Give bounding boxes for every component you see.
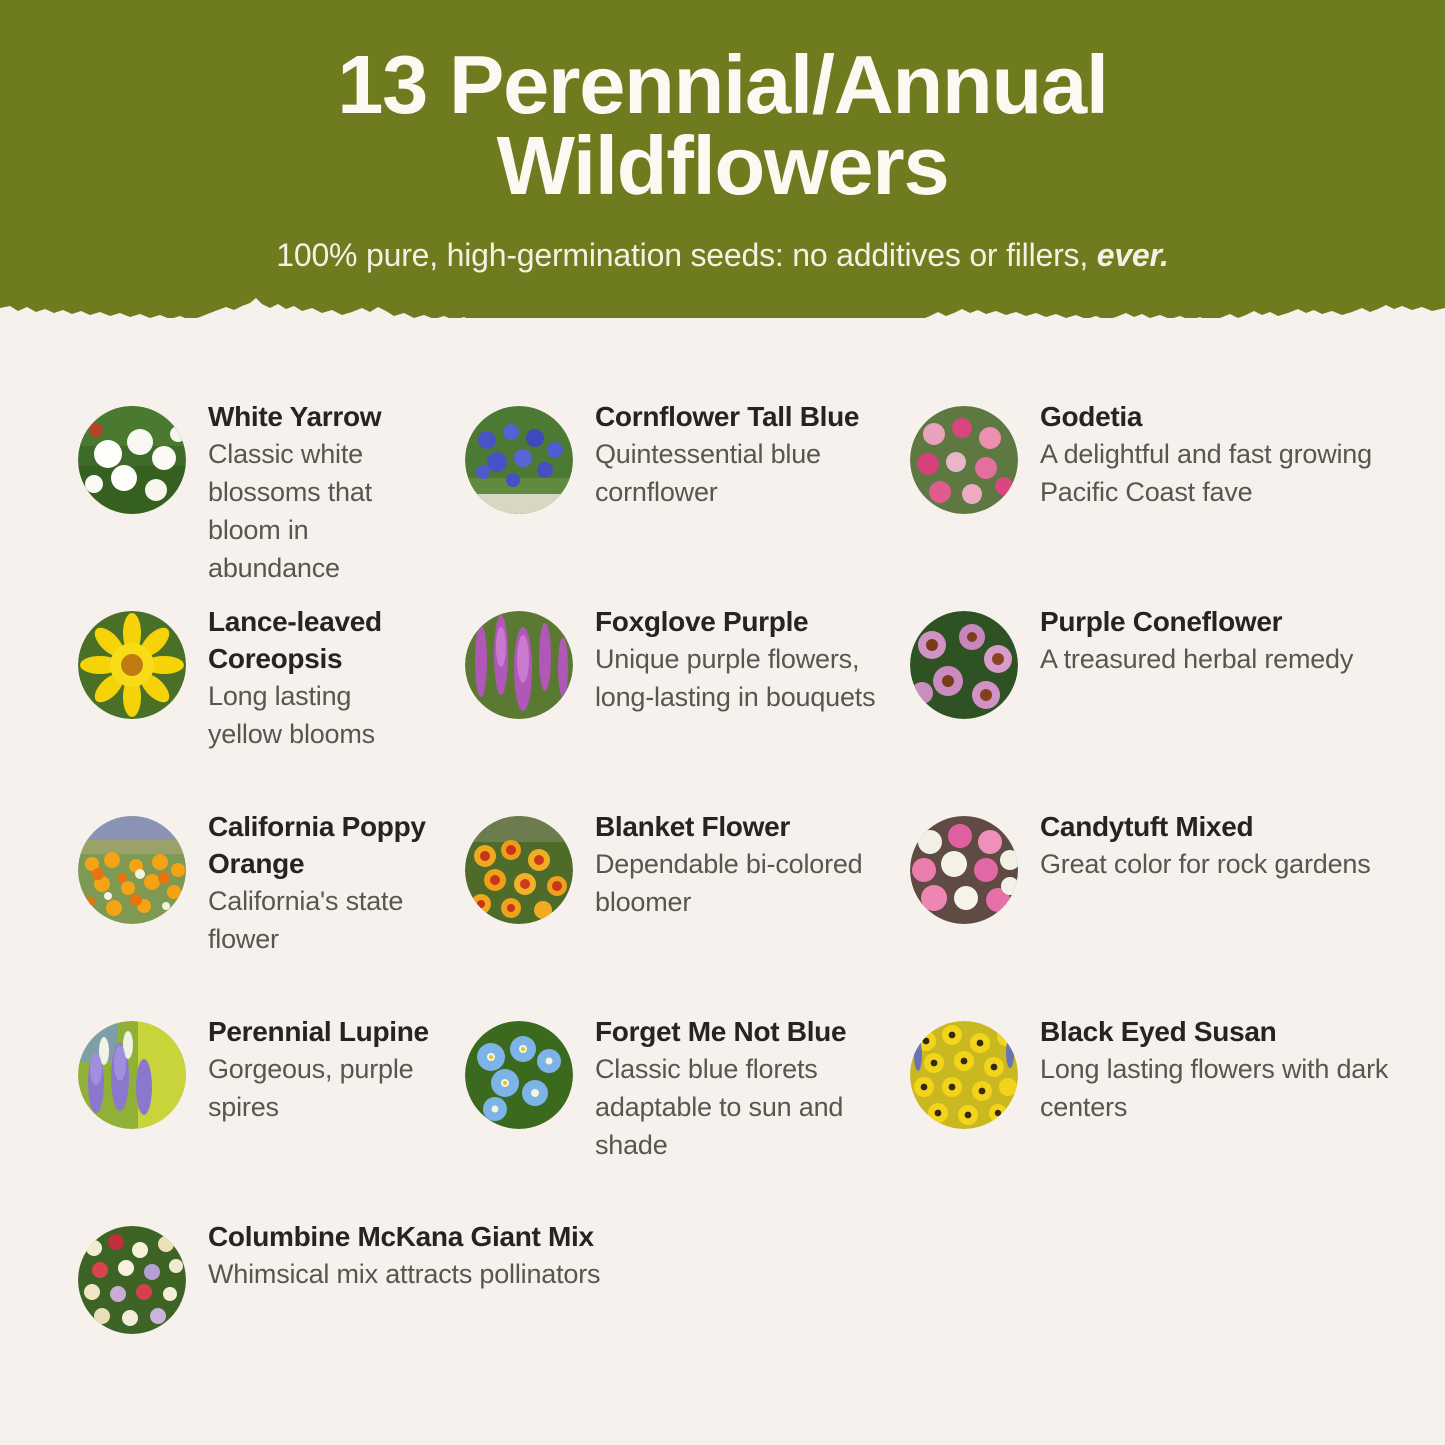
subtitle-main-text: 100% pure, high-germination seeds: no ad…	[276, 237, 1088, 273]
flower-description: Classic white blossoms that bloom in abu…	[208, 436, 431, 587]
flower-row: California Poppy Orange California's sta…	[0, 790, 1445, 995]
flower-description: Classic blue florets adaptable to sun an…	[595, 1051, 876, 1164]
flower-name: Cornflower Tall Blue	[595, 398, 876, 435]
flower-item-godetia[interactable]: Godetia A delightful and fast growing Pa…	[890, 380, 1410, 585]
flower-item-perennial-lupine[interactable]: Perennial Lupine Gorgeous, purple spires	[0, 995, 445, 1200]
flower-description: Gorgeous, purple spires	[208, 1051, 431, 1127]
flower-row: Perennial Lupine Gorgeous, purple spires…	[0, 995, 1445, 1200]
flower-name: Godetia	[1040, 398, 1396, 435]
flower-row: Columbine McKana Giant Mix Whimsical mix…	[0, 1200, 1445, 1380]
foxglove-purple-photo-icon	[465, 611, 573, 719]
flower-description: Long lasting yellow blooms	[208, 678, 431, 754]
flower-name: Blanket Flower	[595, 808, 876, 845]
california-poppy-orange-photo-icon	[78, 816, 186, 924]
flower-name: Perennial Lupine	[208, 1013, 431, 1050]
flower-name: White Yarrow	[208, 398, 431, 435]
flower-name: Columbine McKana Giant Mix	[208, 1218, 600, 1255]
flower-item-columbine-mckana-giant-mix[interactable]: Columbine McKana Giant Mix Whimsical mix…	[0, 1200, 701, 1380]
flower-item-foxglove-purple[interactable]: Foxglove Purple Unique purple flowers, l…	[445, 585, 890, 790]
flower-name: Lance-leaved Coreopsis	[208, 603, 431, 677]
black-eyed-susan-photo-icon	[910, 1021, 1018, 1129]
flower-item-black-eyed-susan[interactable]: Black Eyed Susan Long lasting flowers wi…	[890, 995, 1410, 1200]
flower-description: Unique purple flowers, long-lasting in b…	[595, 641, 876, 717]
flower-description: Great color for rock gardens	[1040, 846, 1371, 884]
page-subtitle: 100% pure, high-germination seeds: no ad…	[0, 237, 1445, 274]
godetia-photo-icon	[910, 406, 1018, 514]
candytuft-mixed-photo-icon	[910, 816, 1018, 924]
flower-item-forget-me-not-blue[interactable]: Forget Me Not Blue Classic blue florets …	[445, 995, 890, 1200]
perennial-lupine-photo-icon	[78, 1021, 186, 1129]
flower-item-candytuft-mixed[interactable]: Candytuft Mixed Great color for rock gar…	[890, 790, 1410, 995]
white-yarrow-photo-icon	[78, 406, 186, 514]
flower-description: Whimsical mix attracts pollinators	[208, 1256, 600, 1294]
subtitle-emphasis-text: ever.	[1097, 237, 1169, 273]
flower-description: Quintessential blue cornflower	[595, 436, 876, 512]
flower-item-purple-coneflower[interactable]: Purple Coneflower A treasured herbal rem…	[890, 585, 1410, 790]
flower-item-california-poppy-orange[interactable]: California Poppy Orange California's sta…	[0, 790, 445, 995]
cornflower-tall-blue-photo-icon	[465, 406, 573, 514]
flower-name: Candytuft Mixed	[1040, 808, 1371, 845]
flower-description: Dependable bi-colored bloomer	[595, 846, 876, 922]
flower-description: California's state flower	[208, 883, 431, 959]
flower-name: Foxglove Purple	[595, 603, 876, 640]
flower-row: White Yarrow Classic white blossoms that…	[0, 380, 1445, 585]
forget-me-not-blue-photo-icon	[465, 1021, 573, 1129]
flower-name: Purple Coneflower	[1040, 603, 1353, 640]
wildflower-seed-infographic: 13 Perennial/Annual Wildflowers 100% pur…	[0, 0, 1445, 1445]
flower-item-cornflower-tall-blue[interactable]: Cornflower Tall Blue Quintessential blue…	[445, 380, 890, 585]
flower-name: Forget Me Not Blue	[595, 1013, 876, 1050]
page-title: 13 Perennial/Annual Wildflowers	[0, 44, 1445, 207]
flower-description: A delightful and fast growing Pacific Co…	[1040, 436, 1396, 512]
flower-description: Long lasting flowers with dark centers	[1040, 1051, 1396, 1127]
lance-leaved-coreopsis-photo-icon	[78, 611, 186, 719]
blanket-flower-photo-icon	[465, 816, 573, 924]
flower-row: Lance-leaved Coreopsis Long lasting yell…	[0, 585, 1445, 790]
flower-item-lance-leaved-coreopsis[interactable]: Lance-leaved Coreopsis Long lasting yell…	[0, 585, 445, 790]
columbine-mckana-giant-mix-photo-icon	[78, 1226, 186, 1334]
flower-item-white-yarrow[interactable]: White Yarrow Classic white blossoms that…	[0, 380, 445, 585]
flower-name: Black Eyed Susan	[1040, 1013, 1396, 1050]
flower-list-grid: White Yarrow Classic white blossoms that…	[0, 380, 1445, 1380]
flower-name: California Poppy Orange	[208, 808, 431, 882]
header-banner: 13 Perennial/Annual Wildflowers 100% pur…	[0, 0, 1445, 318]
flower-item-blanket-flower[interactable]: Blanket Flower Dependable bi-colored blo…	[445, 790, 890, 995]
purple-coneflower-photo-icon	[910, 611, 1018, 719]
flower-description: A treasured herbal remedy	[1040, 641, 1353, 679]
